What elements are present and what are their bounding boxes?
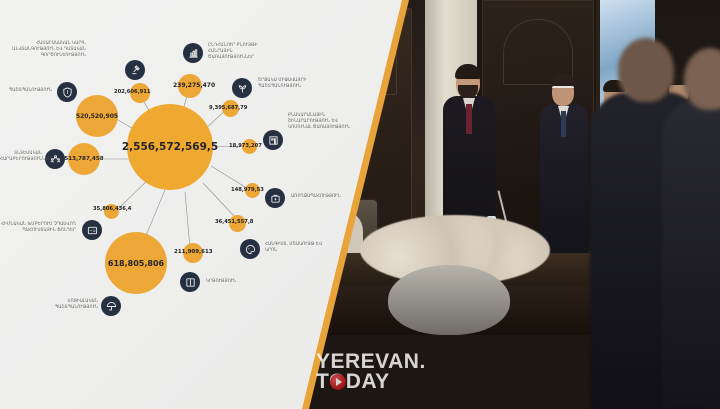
photo-glasses-minister-two [552,86,574,93]
bubble-environment-value: 9,395,687,79 [209,105,247,111]
photo-hair-prime-minister [455,64,481,79]
bubble-social-protection[interactable]: 618,805,806 [105,232,167,294]
label-public-order: ՀԱՍԱՐԱԿԱԿԱՆ ԿԱՐԳ, ԱՆՎՏԱՆԳՈՒԹՅՈՒՆ ԵՎ ԴԱՏԱ… [8,40,86,57]
bubble-general-services-value: 239,275,470 [173,82,215,89]
watermark-line-one: YEREVAN. [316,352,426,372]
play-button-logo [330,374,346,390]
book-icon[interactable] [180,272,200,292]
screenshot-root: 2,556,572,569,5 520,520,905 ՊԱՇՏՊԱՆՈՒԹՅՈ… [0,0,720,409]
bubble-social-protection-value: 618,805,806 [108,259,164,268]
umbrella-icon[interactable] [101,296,121,316]
label-social-protection: ՍՈՑԻԱԼԱԿԱՆ ՊԱՇՏՊԱՆՈՒԹՅՈՒՆ [38,298,98,310]
plant-icon[interactable] [232,78,252,98]
watermark: YEREVAN. TODAY [316,352,426,392]
bubble-education-value: 211,909,613 [174,249,213,255]
photo-planter [388,265,510,335]
bubble-total-value: 2,556,572,569,5 [122,141,218,153]
bubble-housing-value: 18,973,207 [229,143,262,149]
label-culture: ՀԱՆԳԻՍՏ, ՄՇԱԿՈՒՅԹ ԵՎ ԿՐՈՆ [265,241,335,253]
label-economic-relations: ՏՆՏԵՍԱԿԱՆ ՀԱՐԱԲԵՐՈՒԹՅՈՒՆՆԵՐ [0,150,42,162]
gavel-icon[interactable] [125,60,145,80]
bubble-reserve-funds-value: 35,806,436,4 [93,206,131,212]
photo-foreground-person-two [662,100,720,409]
shield-icon[interactable] [57,82,77,102]
budget-bubble-chart: 2,556,572,569,5 520,520,905 ՊԱՇՏՊԱՆՈՒԹՅՈ… [0,0,360,340]
label-environment: ՇՐՋԱԿԱ ՄԻՋԱՎԱՅՐԻ ՊԱՇՏՊԱՆՈՒԹՅՈՒՆ [258,77,328,89]
bubble-defense[interactable]: 520,520,905 [76,95,118,137]
first-aid-icon[interactable] [265,188,285,208]
bubble-health-value: 148,979,53 [231,187,264,193]
photo-foreground-head-one [618,38,674,102]
watermark-line-two: TODAY [316,372,426,392]
bubble-economic-relations[interactable]: 513,787,458 [68,143,100,175]
label-general-services: ԸՆԴՀԱՆՈՒՐ ԲՆՈՒՅԹԻ ՀԱՆՐԱՅԻՆ ԾԱՌԱՅՈՒԹՅՈՒՆՆ… [208,42,280,59]
reserve-fund-icon[interactable] [82,220,102,240]
bubble-public-order-value: 202,606,911 [114,89,150,95]
bubble-culture-value: 36,451,557,8 [215,219,253,225]
label-defense: ՊԱՇՏՊԱՆՈՒԹՅՈՒՆ [0,87,52,93]
label-education: ԿՐԹՈՒԹՅՈՒՆ [206,278,266,284]
photo-tie-prime-minister [466,104,472,134]
label-health: ԱՌՈՂՋԱՊԱՀՈՒԹՅՈՒՆ [291,193,359,199]
bubble-economic-relations-value: 513,787,458 [64,156,103,162]
building-icon[interactable] [263,130,283,150]
watermark-line-two-text: TODAY [316,370,390,393]
photo-tie-minister-two [561,111,566,137]
bubble-defense-value: 520,520,905 [76,113,118,120]
label-housing: ԲՆԱԿԱՐԱՆԱՅԻՆ ՇԻՆԱՐԱՐՈՒԹՅՈՒՆ ԵՎ ԿՈՄՈՒՆԱԼ … [288,112,358,129]
label-reserve-funds: ՀԻՄՆԱԿԱՆ ԽՄԲԵՐՈՒՄ ՉԴԱՍՎՈՂ ՊԱՀՈՒՍՏԱՅԻՆ ՖՈ… [0,221,76,233]
bar-chart-icon[interactable] [183,43,203,63]
bubble-total[interactable]: 2,556,572,569,5 [127,104,213,190]
palette-icon[interactable] [240,239,260,259]
